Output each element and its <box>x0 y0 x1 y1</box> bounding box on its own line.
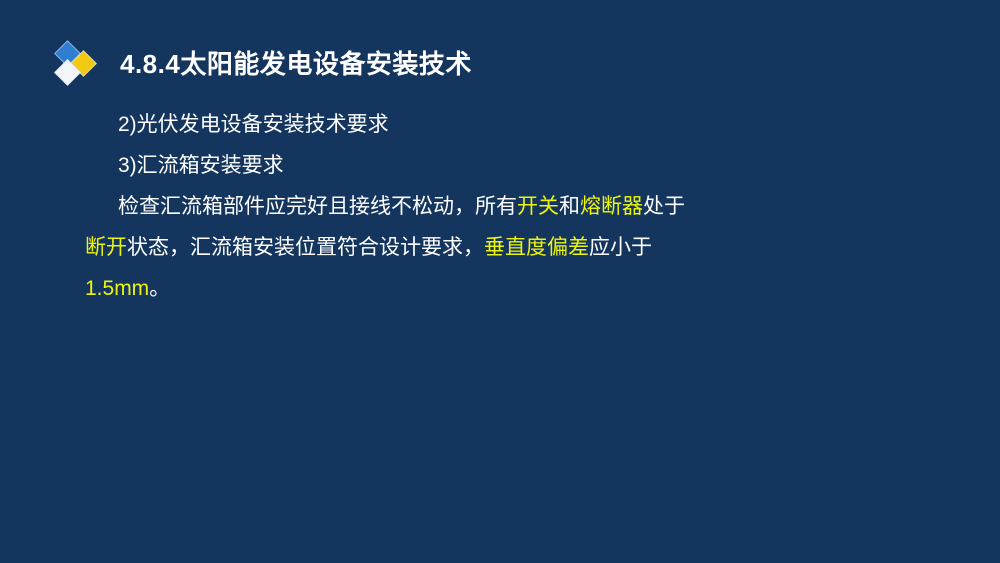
paragraph-segment: 处于 <box>643 195 685 218</box>
paragraph-segment: 应小于 <box>589 236 652 259</box>
three-diamonds-logo <box>52 39 102 89</box>
paragraph-segment-highlight: 开关 <box>517 195 559 218</box>
page-title: 4.8.4太阳能发电设备安装技术 <box>120 51 472 77</box>
list-item: 2)光伏发电设备安装技术要求 <box>85 104 725 145</box>
slide-body: 2)光伏发电设备安装技术要求 3)汇流箱安装要求 检查汇流箱部件应完好且接线不松… <box>85 104 725 309</box>
paragraph-segment-highlight: 断开 <box>85 236 127 259</box>
list-item: 3)汇流箱安装要求 <box>85 145 725 186</box>
paragraph-segment-highlight: 1.5mm <box>85 277 149 300</box>
paragraph-segment: 和 <box>559 195 580 218</box>
paragraph-segment: 状态，汇流箱安装位置符合设计要求， <box>127 236 484 259</box>
paragraph-segment: 检查汇流箱部件应完好且接线不松动，所有 <box>118 195 517 218</box>
slide-canvas: 4.8.4太阳能发电设备安装技术 2)光伏发电设备安装技术要求 3)汇流箱安装要… <box>0 0 1000 563</box>
body-paragraph: 检查汇流箱部件应完好且接线不松动，所有开关和熔断器处于断开状态，汇流箱安装位置符… <box>85 186 700 309</box>
paragraph-segment: 。 <box>149 277 170 300</box>
paragraph-segment-highlight: 垂直度偏差 <box>484 236 589 259</box>
paragraph-segment-highlight: 熔断器 <box>580 195 643 218</box>
slide-title-block: 4.8.4太阳能发电设备安装技术 <box>52 38 472 90</box>
